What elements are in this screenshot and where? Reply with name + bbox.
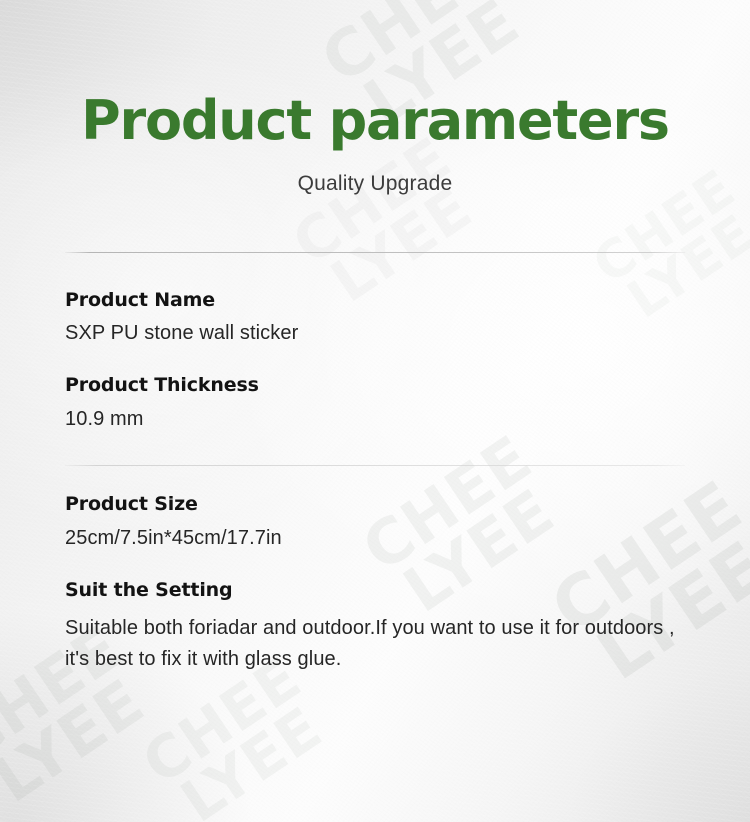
spec-label: Product Name <box>65 289 685 312</box>
spec-group-1: Product Name SXP PU stone wall sticker P… <box>65 253 685 433</box>
page-title: Product parameters <box>0 93 750 150</box>
spec-label: Product Size <box>65 493 685 516</box>
product-parameters-page: CHEE LYEE CHEE LYEE CHEE LYEE CHEE LYEE … <box>0 0 750 822</box>
spec-value: 25cm/7.5in*45cm/17.7in <box>65 526 685 551</box>
spec-value: SXP PU stone wall sticker <box>65 321 685 346</box>
page-header: Product parameters Quality Upgrade <box>0 0 750 196</box>
spec-label: Suit the Setting <box>65 579 685 602</box>
spec-row: Product Size 25cm/7.5in*45cm/17.7in <box>65 493 685 551</box>
spec-row: Product Name SXP PU stone wall sticker <box>65 289 685 347</box>
page-subtitle: Quality Upgrade <box>0 172 750 196</box>
brand-watermark: CHEE LYEE <box>135 650 339 822</box>
spec-label: Product Thickness <box>65 374 685 397</box>
specification-list: Product Name SXP PU stone wall sticker P… <box>0 252 750 675</box>
spec-value: Suitable both foriadar and outdoor.If yo… <box>65 613 685 675</box>
spec-value: 10.9 mm <box>65 407 685 432</box>
spec-row: Product Thickness 10.9 mm <box>65 374 685 432</box>
spec-group-2: Product Size 25cm/7.5in*45cm/17.7in Suit… <box>65 466 685 675</box>
spec-row: Suit the Setting Suitable both foriadar … <box>65 579 685 675</box>
